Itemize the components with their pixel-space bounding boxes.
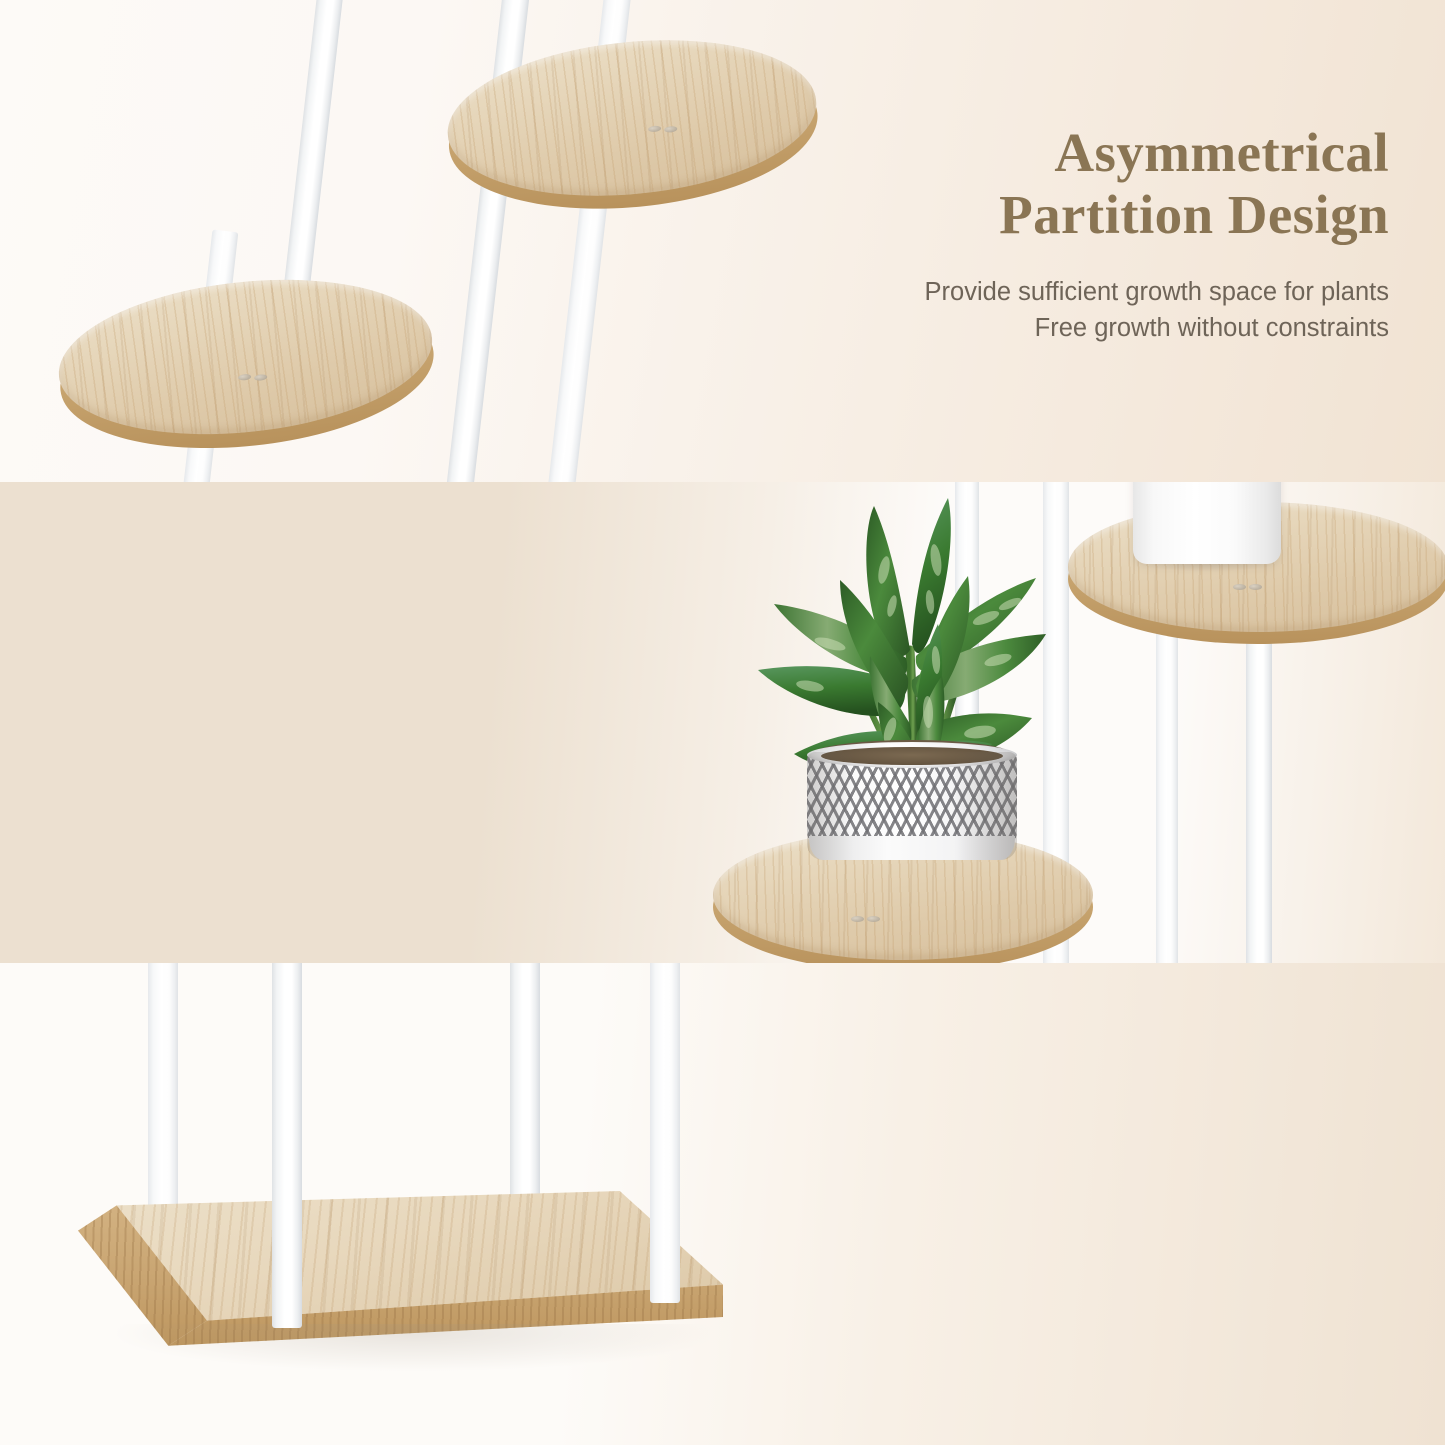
title-line-1: Asymmetrical bbox=[1054, 122, 1389, 183]
metal-leg bbox=[1156, 602, 1178, 963]
patterned-ceramic-pot bbox=[803, 740, 1021, 862]
panel-stable-structure: Stable Structure It's more reassuring no… bbox=[0, 482, 1445, 963]
subtitle-line-2: Free growth without constraints bbox=[1035, 314, 1389, 342]
panel-asymmetrical-partition-design: Asymmetrical Partition Design Provide su… bbox=[0, 0, 1445, 482]
product-infographic: Asymmetrical Partition Design Provide su… bbox=[0, 0, 1445, 1445]
metal-leg bbox=[281, 0, 344, 310]
subtitle-line-1: Provide sufficient growth space for plan… bbox=[925, 278, 1389, 306]
panel-subtitle: Provide sufficient growth space for plan… bbox=[749, 274, 1389, 346]
text-block-asymmetrical: Asymmetrical Partition Design Provide su… bbox=[749, 122, 1389, 347]
panel-widened-floor: Widened Floor Better maintain stability … bbox=[0, 963, 1445, 1445]
round-wood-shelf-upper-left bbox=[51, 263, 440, 451]
square-wood-base-board bbox=[78, 1191, 723, 1371]
pot-shading bbox=[807, 752, 1017, 860]
base-board-shadow bbox=[117, 1324, 710, 1371]
metal-leg bbox=[1246, 602, 1272, 963]
white-plain-pot bbox=[1133, 482, 1281, 564]
metal-leg bbox=[272, 963, 302, 1328]
metal-leg bbox=[650, 963, 680, 1303]
panel-title: Asymmetrical Partition Design bbox=[749, 122, 1389, 246]
title-line-2: Partition Design bbox=[999, 184, 1389, 245]
